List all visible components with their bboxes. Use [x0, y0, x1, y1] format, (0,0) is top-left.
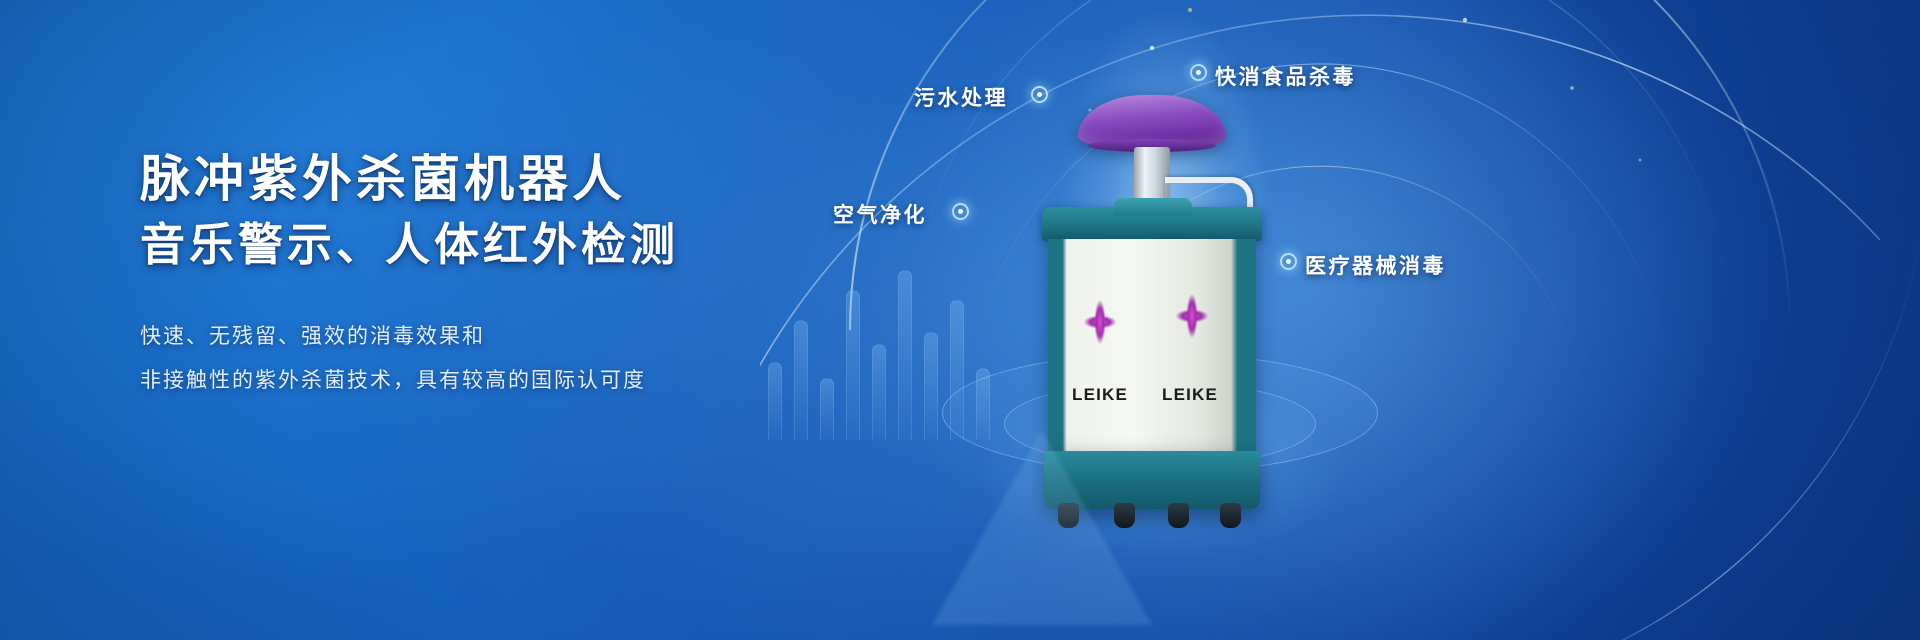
uv-lamp-right [1170, 285, 1214, 347]
top-housing [1042, 207, 1262, 241]
feature-label-waste-water: 污水处理 [914, 82, 1008, 112]
feature-label-air-purification: 空气净化 [833, 199, 927, 229]
product-illustration: LEIKE LEIKE [1010, 95, 1310, 515]
caster-wheel-4 [1220, 503, 1241, 528]
base-housing [1044, 451, 1260, 509]
brand-logo-right: LEIKE [1162, 385, 1218, 405]
page-title-line-1: 脉冲紫外杀菌机器人 [140, 148, 860, 210]
description-line-1: 快速、无残留、强效的消毒效果和 [140, 314, 860, 358]
uv-lamp-left [1078, 291, 1122, 353]
description-line-2: 非接触性的紫外杀菌技术，具有较高的国际认可度 [140, 358, 860, 402]
page-title-line-2: 音乐警示、人体红外检测 [140, 210, 860, 280]
feature-node-air-purification [952, 203, 969, 220]
brand-logo-left: LEIKE [1072, 385, 1128, 405]
feature-node-food-sterilization [1190, 64, 1207, 81]
feature-label-medical-disinfection: 医疗器械消毒 [1305, 250, 1446, 280]
promo-banner: 脉冲紫外杀菌机器人 音乐警示、人体红外检测 快速、无残留、强效的消毒效果和 非接… [0, 0, 1920, 640]
feature-label-food-sterilization: 快消食品杀毒 [1215, 61, 1356, 91]
headline-block: 脉冲紫外杀菌机器人 音乐警示、人体红外检测 快速、无残留、强效的消毒效果和 非接… [140, 148, 860, 402]
caster-wheel-2 [1114, 503, 1135, 528]
caster-wheel-1 [1058, 503, 1079, 528]
caster-wheel-3 [1168, 503, 1189, 528]
